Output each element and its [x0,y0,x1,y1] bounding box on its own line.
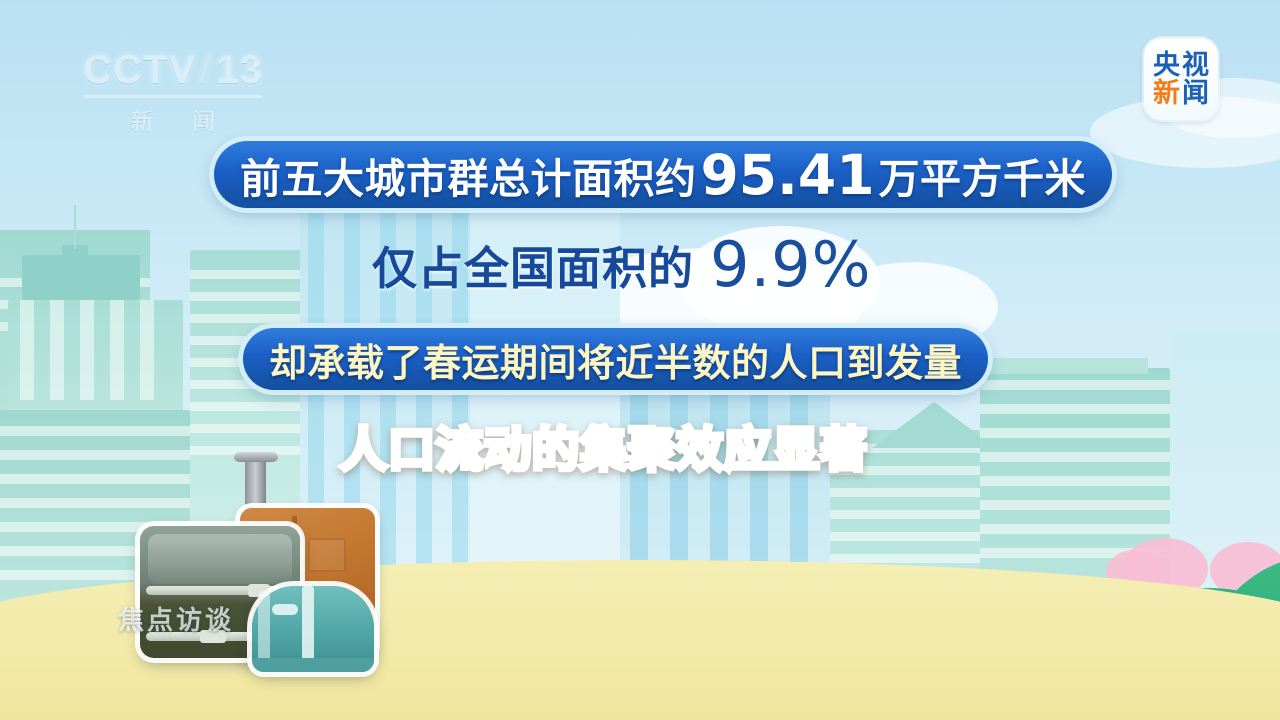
banner1-prefix: 前五大城市群总计面积约 [240,145,697,205]
duffel-bag-teal [252,586,374,672]
logo-underline [84,95,262,98]
banner3-text: 却承载了春运期间将近半数的人口到发量 [269,332,962,387]
broadcast-frame: 前五大城市群总计面积约 95.41 万平方千米 仅占全国面积的 9.9% 却承载… [0,0,1280,720]
luggage-group [140,452,408,674]
stat-banner-1: 前五大城市群总计面积约 95.41 万平方千米 [214,141,1112,208]
logo-char-wen: 闻 [1182,80,1209,107]
stat-line-2: 仅占全国面积的 9.9% [372,228,872,300]
antenna [74,205,76,249]
cctv-channel-sub: 新 闻 [78,102,268,136]
banner1-suffix: 万平方千米 [878,145,1086,205]
cctv13-logo: CCTV / 13 新 闻 [78,48,268,136]
logo-char-shi: 视 [1182,52,1209,79]
stat-banner-3: 却承载了春运期间将近半数的人口到发量 [243,328,988,390]
banner2-prefix: 仅占全国面积的 [372,232,694,297]
suitcase-handle [245,456,266,516]
banner1-value: 95.41 [697,143,879,207]
building-roof [872,402,996,448]
logo-slash: / [200,48,212,93]
banner2-value: 9.9% [694,228,872,301]
logo-char-yang: 央 [1153,52,1180,79]
cctv-channel-number: 13 [216,48,263,93]
headline-text: 人口流动的集聚效应显著 [340,411,868,480]
cctv-news-app-logo: 央 视 新 闻 [1144,38,1218,120]
cctv-wordmark: CCTV [83,48,196,93]
logo-char-xin: 新 [1153,80,1180,107]
headline-conclusion: 人口流动的集聚效应显著 [340,414,868,476]
building-cap [978,358,1148,374]
suitcase-handle-grip [234,452,278,462]
